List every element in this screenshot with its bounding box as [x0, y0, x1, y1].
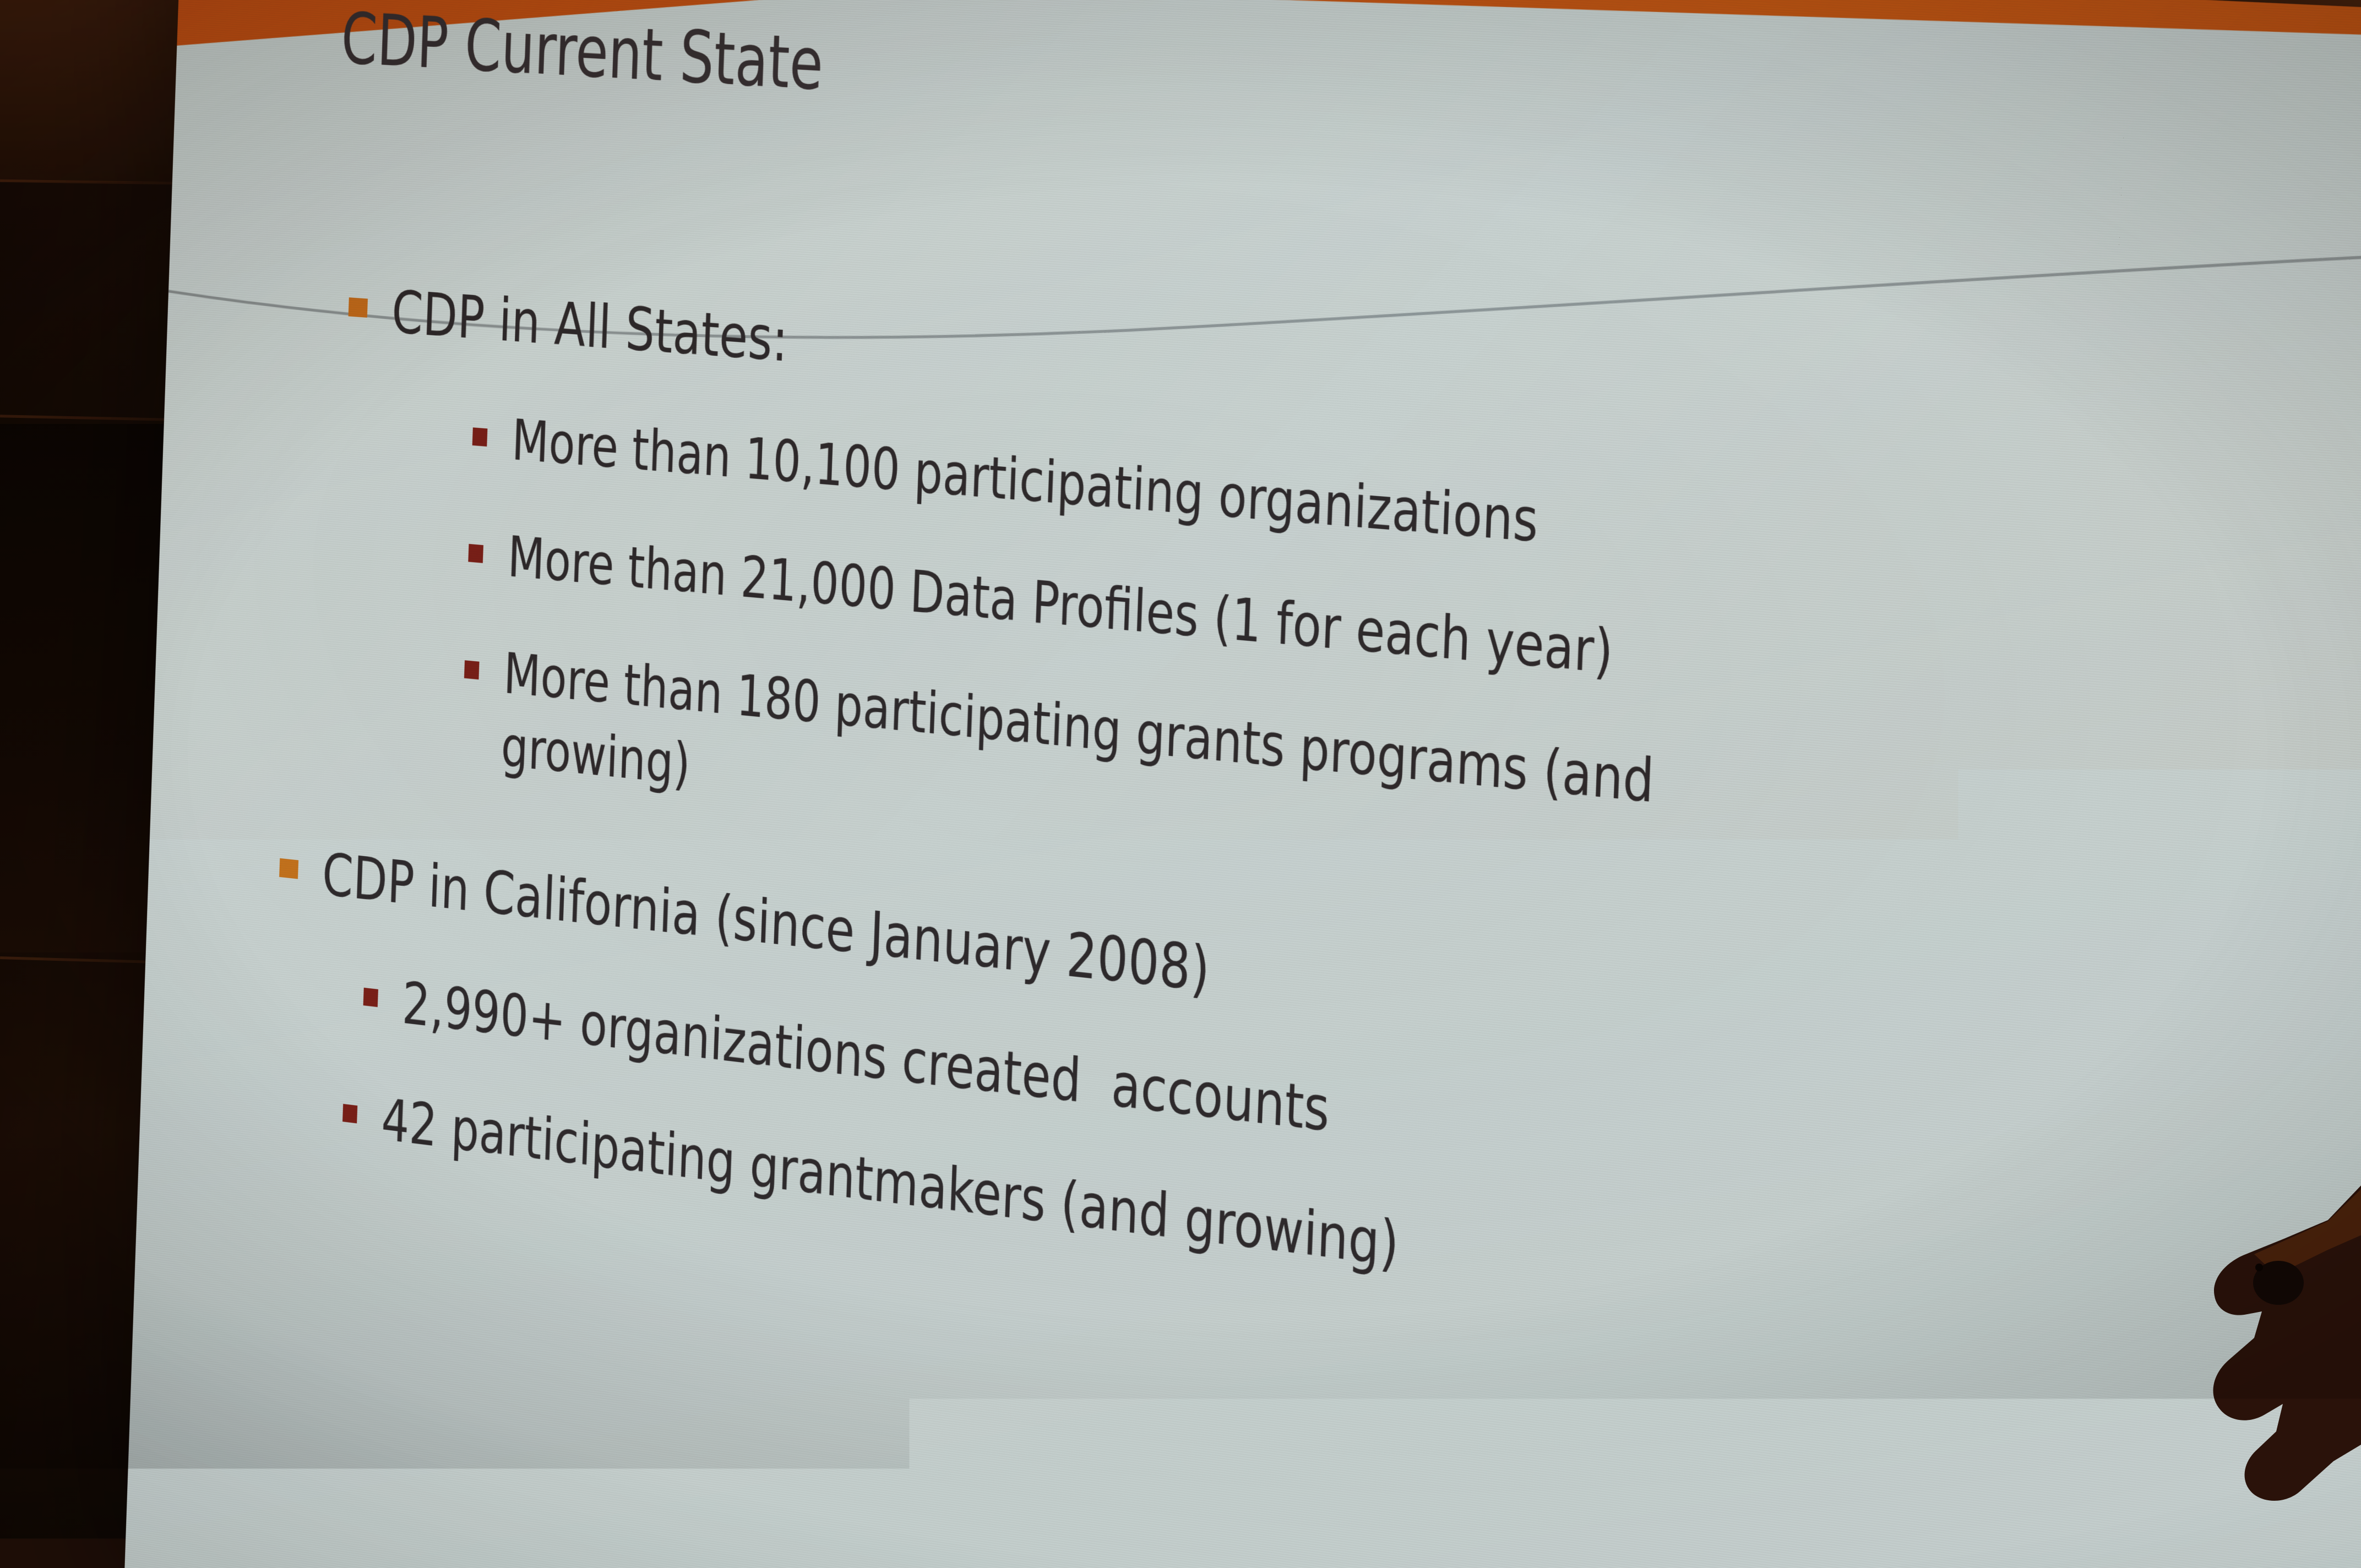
red-square-bullet-icon: [472, 427, 488, 447]
red-square-bullet-icon: [342, 1104, 357, 1123]
slide-top-orange-band: [684, 0, 2361, 52]
red-square-bullet-icon: [468, 544, 483, 563]
projection-screen: PROJ CDP Current State CDP in All States…: [124, 0, 2361, 1568]
orange-square-bullet-icon: [349, 297, 368, 318]
projection-screen-wrapper: PROJ CDP Current State CDP in All States…: [0, 0, 2361, 1568]
orange-square-bullet-icon: [279, 858, 298, 879]
red-square-bullet-icon: [464, 660, 480, 679]
slide-bullet-list: CDP in All States: More than 10,100 part…: [140, 258, 2361, 1451]
photo-scene: PROJ CDP Current State CDP in All States…: [0, 0, 2361, 1568]
slide-title: CDP Current State: [340, 0, 824, 106]
red-square-bullet-icon: [363, 987, 378, 1006]
presentation-slide: PROJ CDP Current State CDP in All States…: [124, 0, 2361, 1568]
